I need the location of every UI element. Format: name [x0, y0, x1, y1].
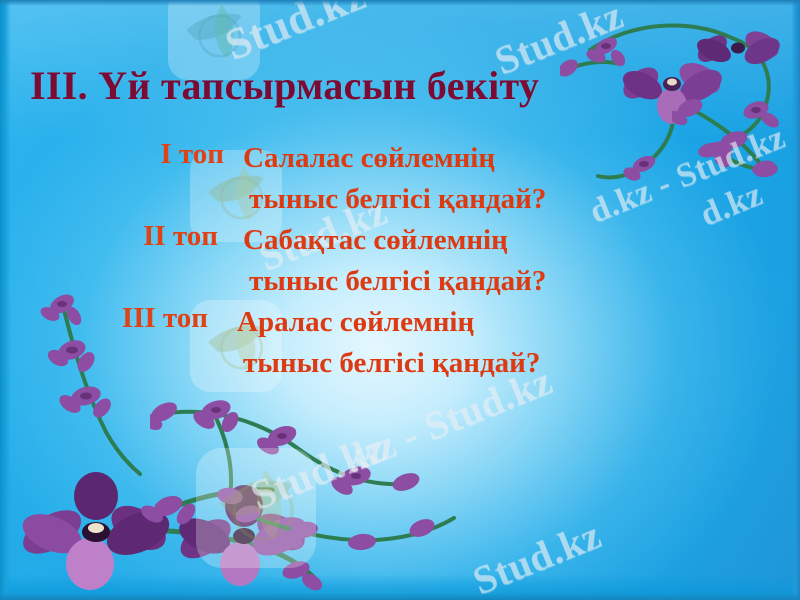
question-line-1: Сабақтас сөйлемнің: [243, 220, 546, 261]
question-text: Аралас сөйлемнің тыныс белгісі қандай?: [237, 302, 540, 384]
question-text: Сабақтас сөйлемнің тыныс белгісі қандай?: [243, 220, 546, 302]
question-line-2: тыныс белгісі қандай?: [243, 179, 546, 220]
group-label: III топ: [44, 302, 208, 335]
slide-content: III. Үй тапсырмасын бекіту I топ Салалас…: [0, 0, 800, 600]
question-line-1: Аралас сөйлемнің: [237, 302, 540, 343]
question-line-2: тыныс белгісі қандай?: [243, 261, 546, 302]
question-line-2: тыныс белгісі қандай?: [237, 343, 540, 384]
question-row: I топ Салалас сөйлемнің тыныс белгісі қа…: [0, 138, 800, 220]
border-bottom: [0, 593, 800, 600]
question-line-1: Салалас сөйлемнің: [243, 138, 546, 179]
group-label: II топ: [54, 220, 218, 253]
question-list: I топ Салалас сөйлемнің тыныс белгісі қа…: [0, 138, 800, 384]
question-text: Салалас сөйлемнің тыныс белгісі қандай?: [243, 138, 546, 220]
slide-title: III. Үй тапсырмасын бекіту: [30, 62, 539, 109]
border-left: [0, 0, 11, 600]
border-top: [0, 0, 800, 6]
question-row: II топ Сабақтас сөйлемнің тыныс белгісі …: [0, 220, 800, 302]
slide-canvas: Stud.kz Stud.kz d.kz - Stud.kz d.kz Stud…: [0, 0, 800, 600]
question-row: III топ Аралас сөйлемнің тыныс белгісі қ…: [0, 302, 800, 384]
group-label: I топ: [60, 138, 224, 171]
border-right: [791, 0, 800, 600]
